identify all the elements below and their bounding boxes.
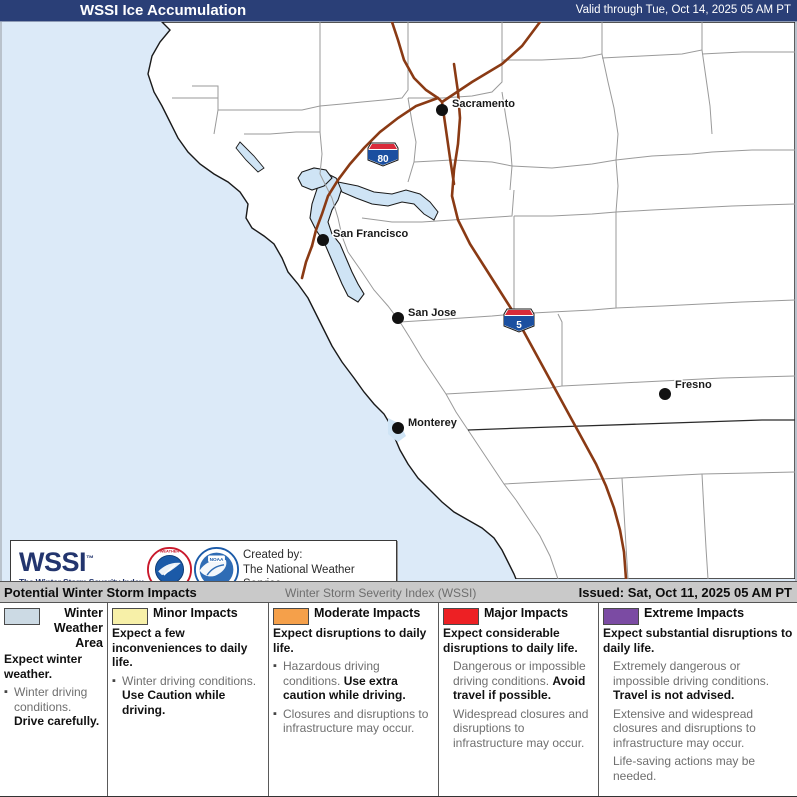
legend-bullet-emphasis: Use Caution while driving. xyxy=(122,688,225,717)
legend-column-winter-weather-area: Winter Weather AreaExpect winter weather… xyxy=(0,603,108,796)
legend-header: Minor Impacts xyxy=(112,606,264,625)
wssi-wordmark: WSSI™ The Winter Storm Severity Index xyxy=(19,545,144,581)
credit-block: Created by: The National Weather Service… xyxy=(243,548,396,581)
legend-bullet-text: Winter driving conditions. Use Caution w… xyxy=(122,674,264,718)
legend-bullet: Dangerous or impossible driving conditio… xyxy=(443,659,594,703)
ribbon-issued-text: Issued: Sat, Oct 11, 2025 05 AM PT xyxy=(579,585,792,600)
legend-body: Expect disruptions to daily life.▪Hazard… xyxy=(273,626,434,736)
city-label-san-francisco: San Francisco xyxy=(333,228,408,240)
legend-summary: Expect winter weather. xyxy=(4,652,103,681)
noaa-seal-icon: NOAA xyxy=(194,547,239,581)
legend-bullet-emphasis: Use extra caution while driving. xyxy=(283,674,406,703)
legend-swatch-major-impacts xyxy=(443,608,479,625)
city-label-sacramento: Sacramento xyxy=(452,98,515,110)
city-dot-san-jose xyxy=(392,312,404,324)
legend-bullet: Widespread closures and disruptions to i… xyxy=(443,707,594,751)
map-panel[interactable]: 80 5 Sacramento San Francisco San Jose M… xyxy=(0,22,797,581)
city-dot-monterey xyxy=(392,422,404,434)
legend-header: Extreme Impacts xyxy=(603,606,793,625)
ribbon-subtitle: Winter Storm Severity Index (WSSI) xyxy=(285,586,476,600)
legend-bullet: ▪Hazardous driving conditions. Use extra… xyxy=(273,659,434,703)
svg-text:WEATHER: WEATHER xyxy=(160,549,180,554)
impacts-ribbon: Potential Winter Storm Impacts Winter St… xyxy=(0,581,797,603)
legend-summary: Expect disruptions to daily life. xyxy=(273,626,434,655)
legend-summary: Expect considerable disruptions to daily… xyxy=(443,626,594,655)
legend-heading: Major Impacts xyxy=(484,606,568,621)
valid-through-text: Valid through Tue, Oct 14, 2025 05 AM PT xyxy=(576,4,791,16)
wssi-logo-box: WSSI™ The Winter Storm Severity Index xyxy=(10,540,397,581)
legend-swatch-winter-weather-area xyxy=(4,608,40,625)
legend-bullet-text: Closures and disruptions to infrastructu… xyxy=(283,707,434,736)
legend-heading: Winter Weather Area xyxy=(45,606,103,651)
title-bar: WSSI Ice Accumulation Valid through Tue,… xyxy=(0,0,797,22)
legend-heading: Minor Impacts xyxy=(153,606,238,621)
legend-bullet-text: Life-saving actions may be needed. xyxy=(613,754,793,783)
legend-body: Expect a few inconveniences to daily lif… xyxy=(112,626,264,717)
legend-bullet-text: Dangerous or impossible driving conditio… xyxy=(453,659,594,703)
legend-column-extreme-impacts: Extreme ImpactsExpect substantial disrup… xyxy=(599,603,797,796)
legend-swatch-extreme-impacts xyxy=(603,608,639,625)
legend-bullet: Extensive and widespread closures and di… xyxy=(603,707,793,751)
impacts-legend: Winter Weather AreaExpect winter weather… xyxy=(0,603,797,797)
legend-bullet-text: Widespread closures and disruptions to i… xyxy=(453,707,594,751)
legend-bullet: ▪Winter driving conditions. Drive carefu… xyxy=(4,685,103,729)
legend-bullet-text: Extremely dangerous or impossible drivin… xyxy=(613,659,793,703)
legend-bullet-text: Extensive and widespread closures and di… xyxy=(613,707,793,751)
city-dot-sacramento xyxy=(436,104,448,116)
city-label-san-jose: San Jose xyxy=(408,307,456,319)
legend-bullet: ▪Closures and disruptions to infrastruct… xyxy=(273,707,434,736)
svg-text:NOAA: NOAA xyxy=(210,557,224,562)
city-dot-san-francisco xyxy=(317,234,329,246)
map-graphic: 80 5 Sacramento San Francisco San Jose M… xyxy=(2,22,795,579)
svg-text:5: 5 xyxy=(516,320,522,331)
credit-line-2: The National Weather Service xyxy=(243,563,396,582)
legend-summary: Expect substantial disruptions to daily … xyxy=(603,626,793,655)
legend-column-moderate-impacts: Moderate ImpactsExpect disruptions to da… xyxy=(269,603,439,796)
wssi-wordmark-text: WSSI™ xyxy=(19,545,144,576)
nws-seal-icon: WEATHER SERVICE xyxy=(147,547,192,581)
legend-swatch-minor-impacts xyxy=(112,608,148,625)
legend-summary: Expect a few inconveniences to daily lif… xyxy=(112,626,264,670)
legend-bullet: Extremely dangerous or impossible drivin… xyxy=(603,659,793,703)
legend-heading: Extreme Impacts xyxy=(644,606,744,621)
legend-bullet-emphasis: Avoid travel if possible. xyxy=(453,674,585,703)
legend-header: Major Impacts xyxy=(443,606,594,625)
legend-header: Winter Weather Area xyxy=(4,606,103,651)
credit-line-1: Created by: xyxy=(243,548,396,563)
legend-swatch-moderate-impacts xyxy=(273,608,309,625)
legend-header: Moderate Impacts xyxy=(273,606,434,625)
trademark-icon: ™ xyxy=(86,554,94,563)
city-label-monterey: Monterey xyxy=(408,417,458,429)
legend-bullet-text: Winter driving conditions. Drive careful… xyxy=(14,685,103,729)
wssi-map-page: WSSI Ice Accumulation Valid through Tue,… xyxy=(0,0,797,797)
bullet-dot-icon: ▪ xyxy=(273,659,279,703)
bullet-dot-icon: ▪ xyxy=(112,674,118,718)
legend-body: Expect substantial disruptions to daily … xyxy=(603,626,793,783)
city-label-fresno: Fresno xyxy=(675,379,712,391)
legend-bullet: ▪Winter driving conditions. Use Caution … xyxy=(112,674,264,718)
legend-bullet: Life-saving actions may be needed. xyxy=(603,754,793,783)
legend-column-minor-impacts: Minor ImpactsExpect a few inconveniences… xyxy=(108,603,269,796)
legend-body: Expect considerable disruptions to daily… xyxy=(443,626,594,750)
page-title: WSSI Ice Accumulation xyxy=(80,2,246,19)
legend-bullet-text: Hazardous driving conditions. Use extra … xyxy=(283,659,434,703)
ribbon-title: Potential Winter Storm Impacts xyxy=(4,585,197,600)
legend-column-major-impacts: Major ImpactsExpect considerable disrupt… xyxy=(439,603,599,796)
city-dot-fresno xyxy=(659,388,671,400)
legend-bullet-emphasis: Drive carefully. xyxy=(14,714,99,728)
legend-body: Expect winter weather.▪Winter driving co… xyxy=(4,652,103,729)
bullet-dot-icon: ▪ xyxy=(4,685,10,729)
bullet-dot-icon: ▪ xyxy=(273,707,279,736)
svg-text:80: 80 xyxy=(377,154,389,165)
legend-bullet-emphasis: Travel is not advised. xyxy=(613,688,734,702)
legend-heading: Moderate Impacts xyxy=(314,606,420,621)
